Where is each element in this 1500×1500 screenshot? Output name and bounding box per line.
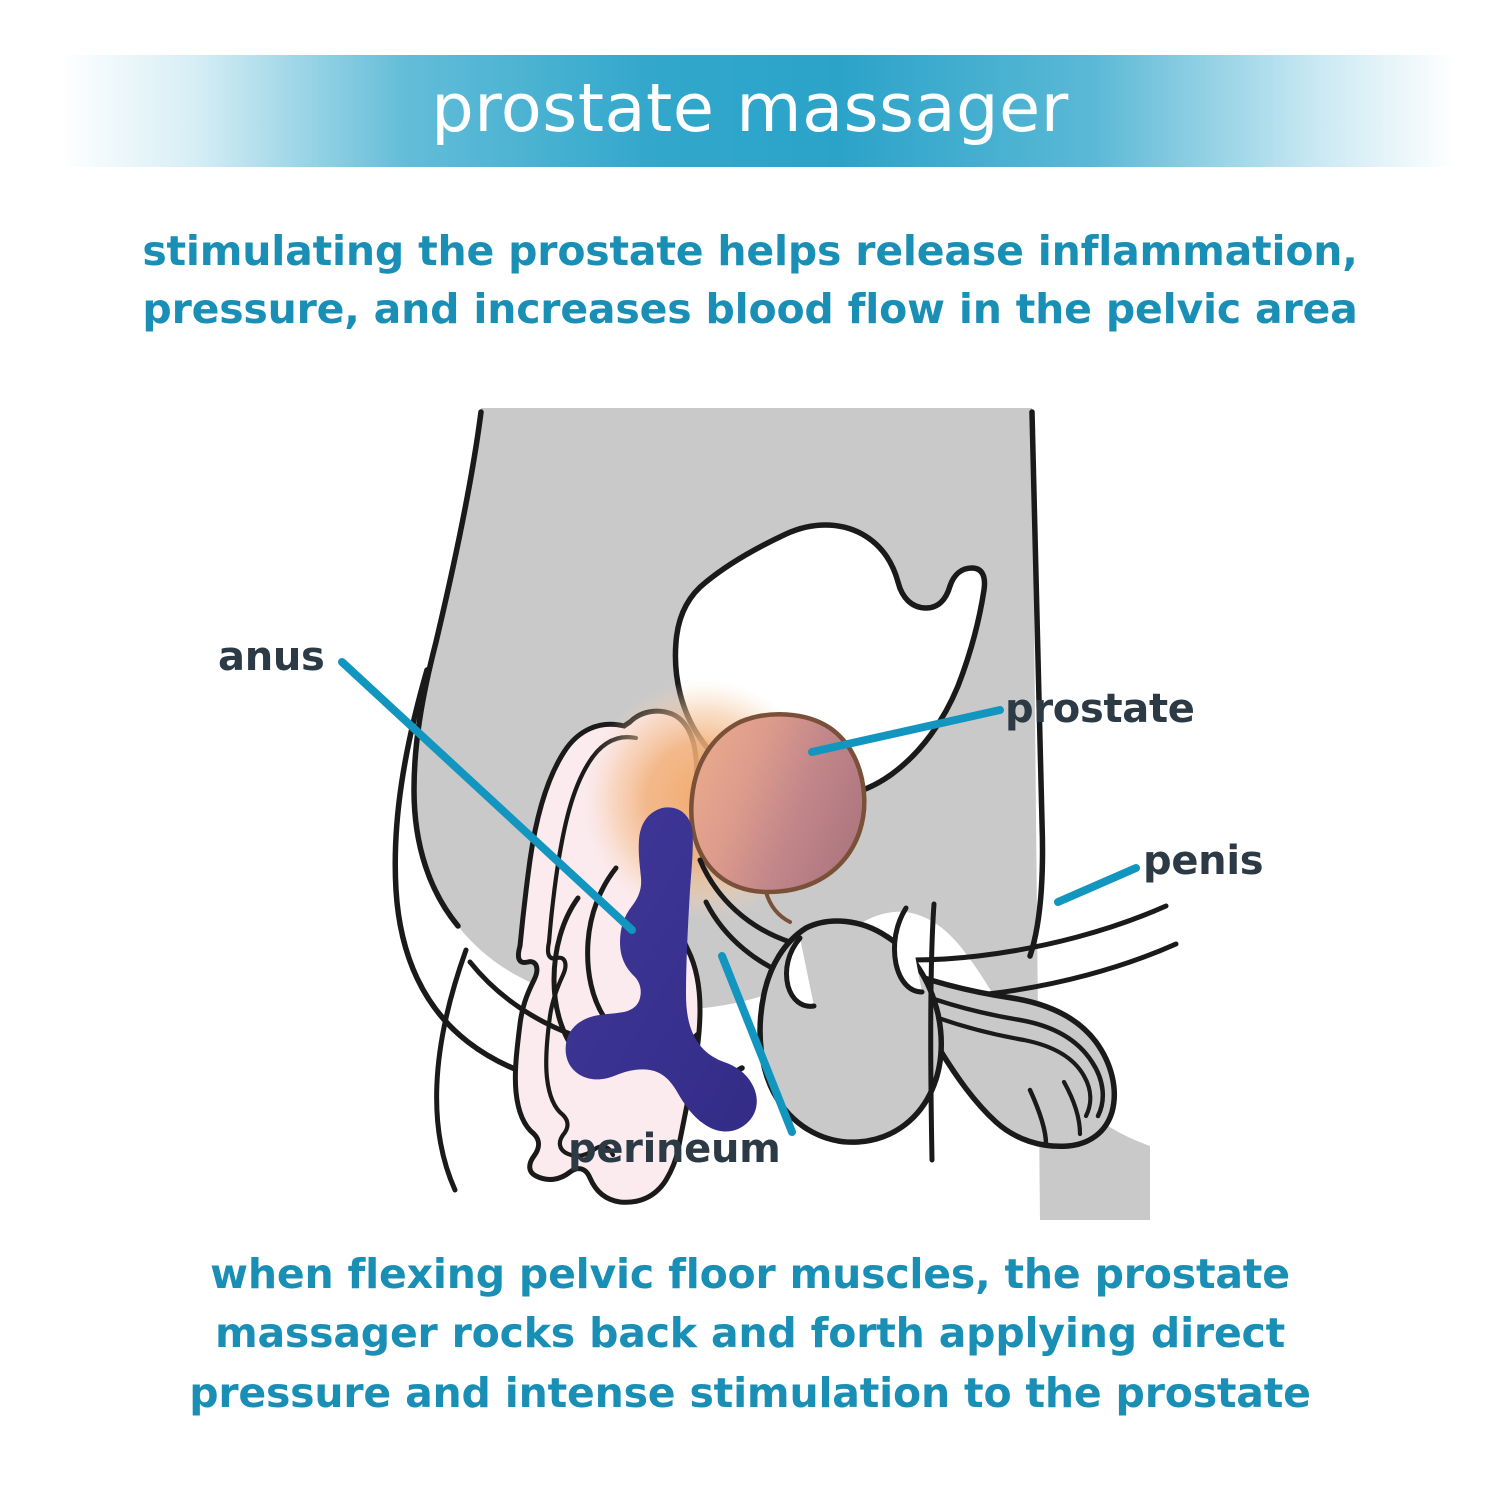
- caption-line-2: massager rocks back and forth applying d…: [120, 1304, 1380, 1363]
- caption-line-3: pressure and intense stimulation to the …: [120, 1364, 1380, 1423]
- label-anus: anus: [218, 634, 325, 680]
- subtitle-text: stimulating the prostate helps release i…: [95, 222, 1405, 338]
- header-banner: prostate massager: [0, 55, 1500, 167]
- subtitle-line-2: pressure, and increases blood flow in th…: [95, 280, 1405, 338]
- page-title: prostate massager: [431, 75, 1069, 148]
- infographic-page: prostate massager stimulating the prosta…: [0, 0, 1500, 1500]
- subtitle-line-1: stimulating the prostate helps release i…: [95, 222, 1405, 280]
- leader-line-penis: [1058, 868, 1136, 902]
- caption-line-1: when flexing pelvic floor muscles, the p…: [120, 1245, 1380, 1304]
- anatomy-diagram: [0, 390, 1500, 1220]
- label-perineum: perineum: [568, 1126, 781, 1172]
- caption-text: when flexing pelvic floor muscles, the p…: [120, 1245, 1380, 1423]
- label-penis: penis: [1143, 838, 1263, 884]
- label-prostate: prostate: [1005, 686, 1195, 732]
